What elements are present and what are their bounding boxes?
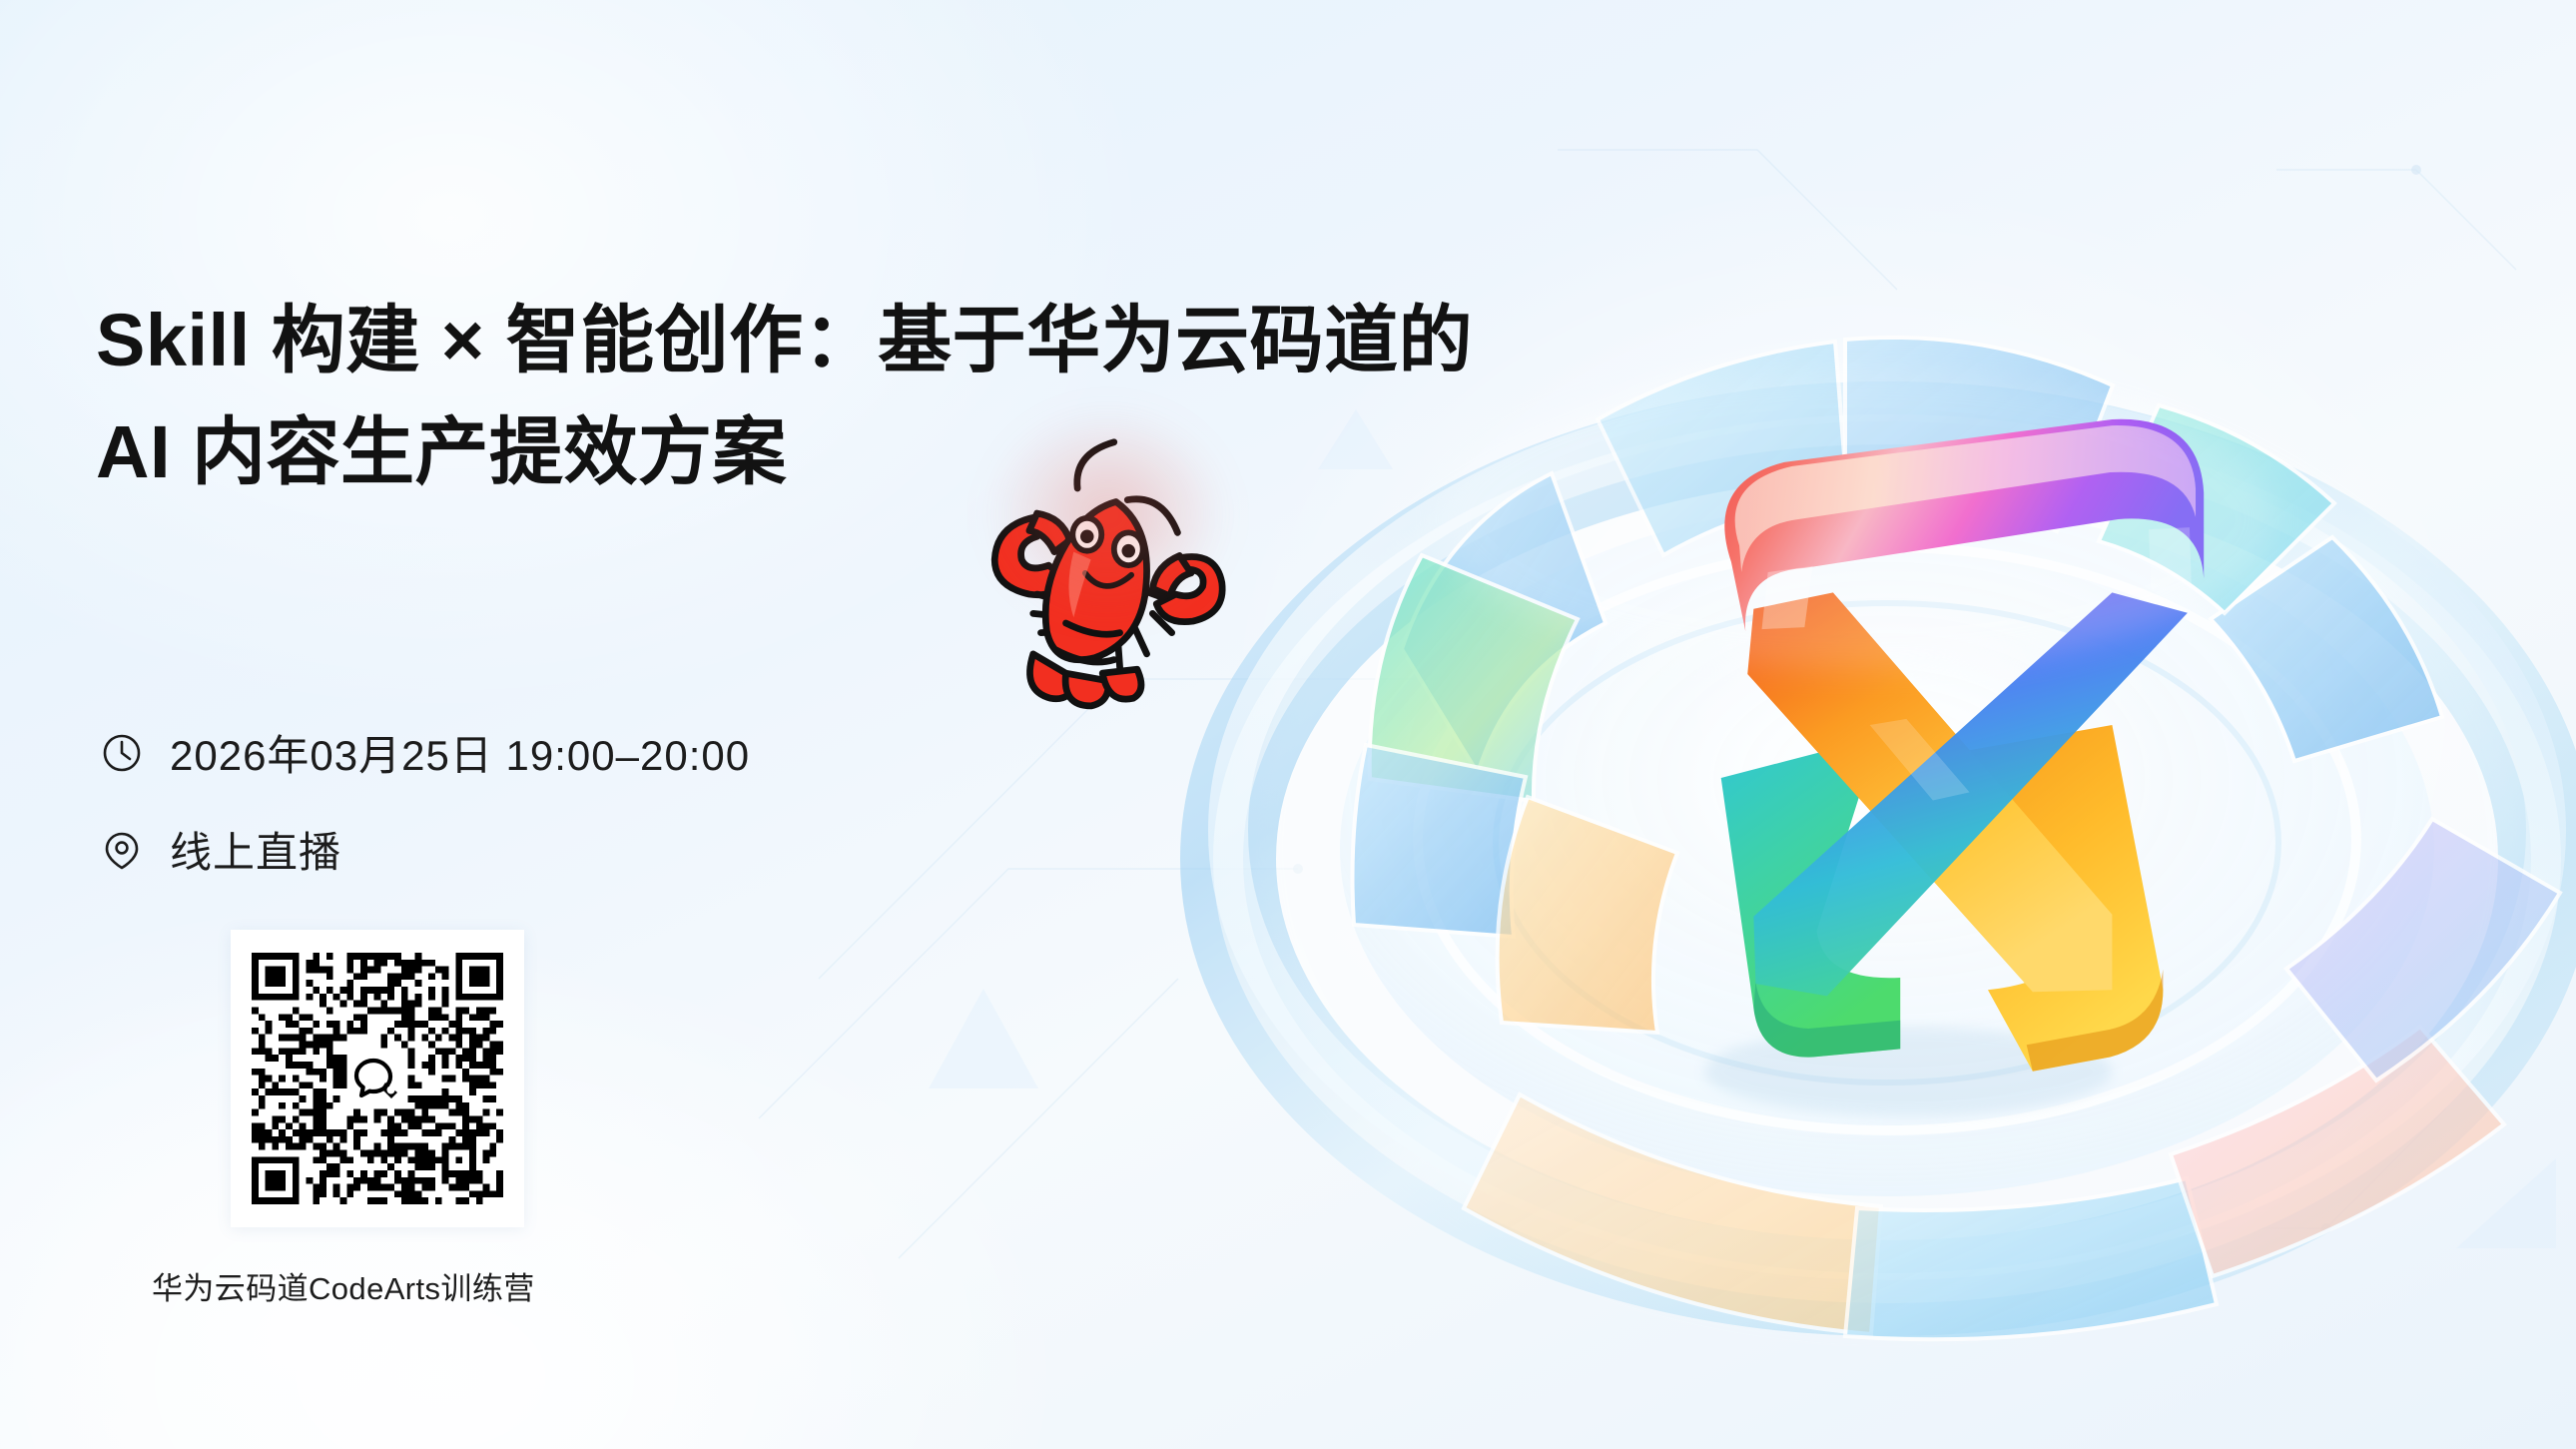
- hero-illustration: [1158, 90, 2576, 1418]
- left-content-panel: Skill 构建 × 智能创作：基于华为云码道的 AI 内容生产提效方案 202…: [0, 0, 1298, 1449]
- clock-icon: [100, 731, 144, 775]
- event-time-text: 2026年03月25日 19:00–20:00: [170, 722, 750, 783]
- lobster-sticker: [973, 424, 1243, 714]
- event-location-row: 线上直播: [100, 819, 341, 880]
- banner-canvas: Skill 构建 × 智能创作：基于华为云码道的 AI 内容生产提效方案 202…: [0, 0, 2576, 1449]
- event-time-row: 2026年03月25日 19:00–20:00: [100, 722, 750, 783]
- sticker-halo: [983, 404, 1233, 624]
- qr-center-logo: [347, 1049, 407, 1108]
- location-pin-icon: [100, 828, 144, 872]
- qr-code-image[interactable]: [252, 953, 503, 1204]
- qr-code-card[interactable]: [231, 930, 524, 1227]
- wechat-chat-bubble-icon: [351, 1053, 403, 1104]
- event-location-text: 线上直播: [170, 819, 341, 880]
- qr-code-caption: 华为云码道CodeArts训练营: [0, 1263, 759, 1308]
- title-line-1: Skill 构建 × 智能创作：基于华为云码道的: [96, 299, 1473, 381]
